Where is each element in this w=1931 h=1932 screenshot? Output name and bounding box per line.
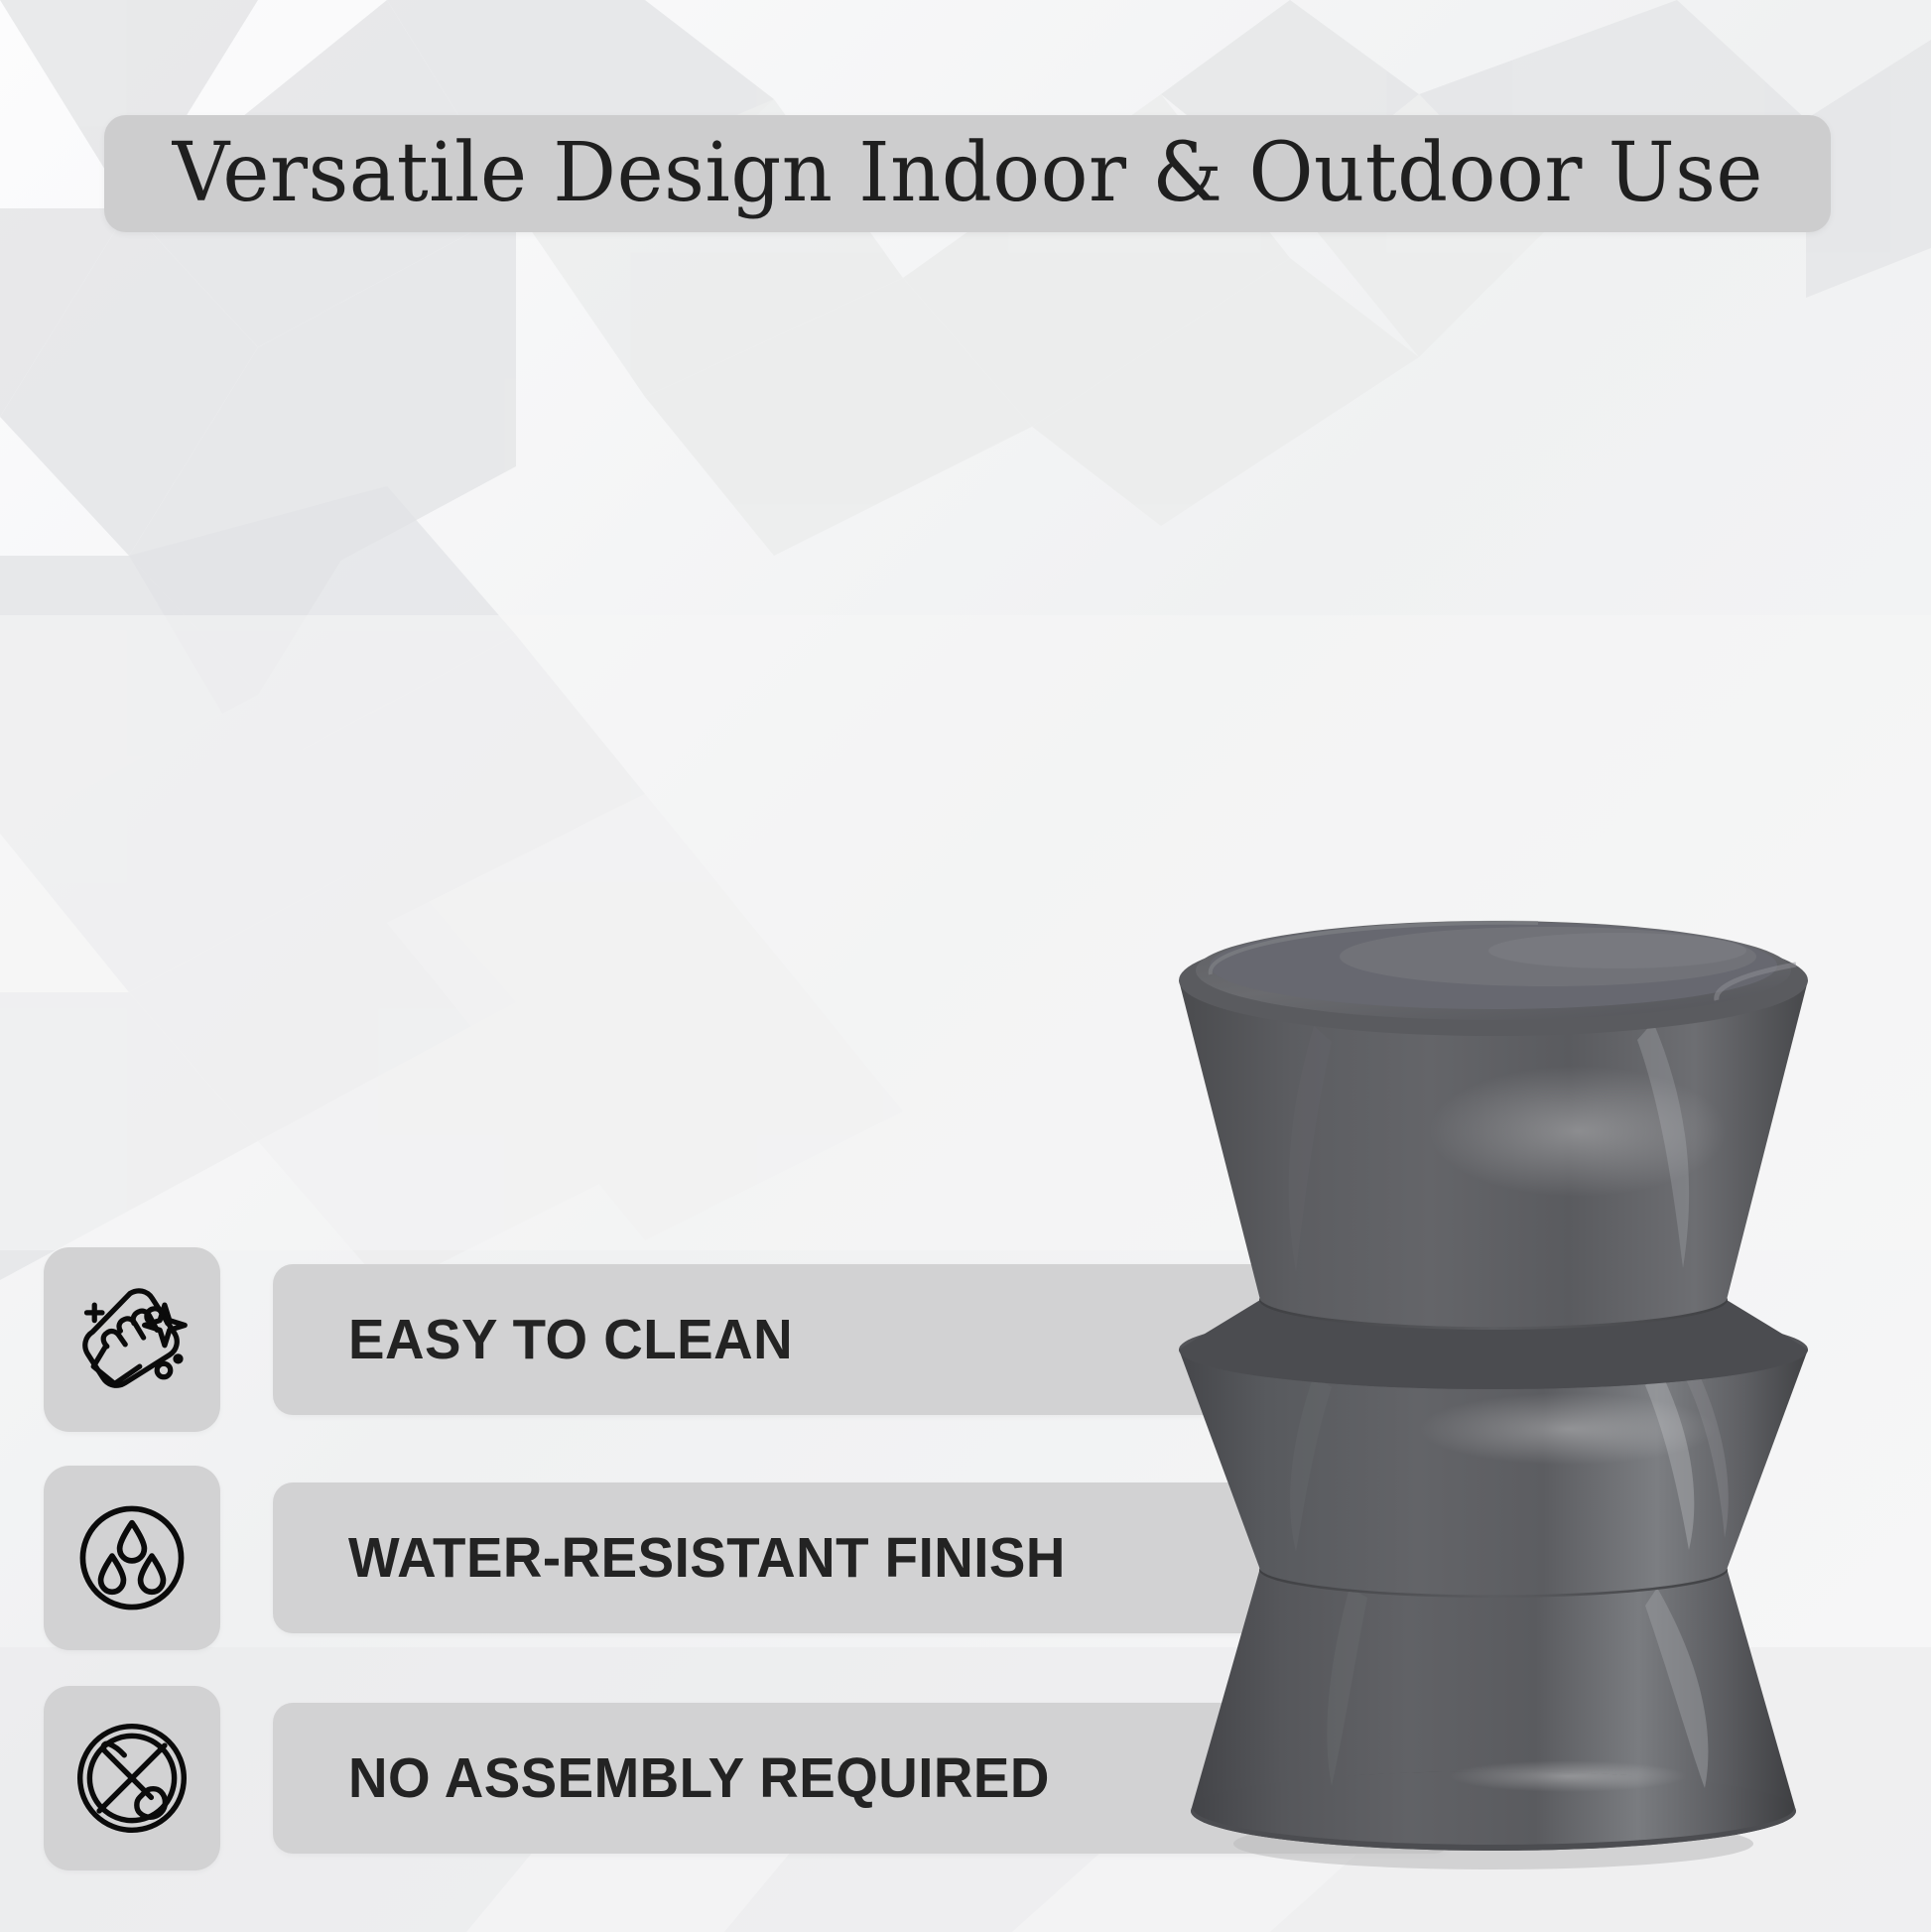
no-tools-prohibited-icon bbox=[70, 1717, 193, 1840]
product-image-side-table bbox=[1101, 834, 1885, 1885]
product-feature-infographic: Versatile Design Indoor & Outdoor Use bbox=[0, 0, 1931, 1932]
feature-icon-box bbox=[44, 1247, 220, 1432]
header-banner: Versatile Design Indoor & Outdoor Use bbox=[104, 115, 1831, 232]
hand-wiping-cloth-sparkle-icon bbox=[70, 1278, 193, 1401]
feature-label: NO ASSEMBLY REQUIRED bbox=[348, 1745, 1050, 1811]
page-title: Versatile Design Indoor & Outdoor Use bbox=[172, 133, 1762, 214]
feature-icon-box bbox=[44, 1466, 220, 1650]
feature-label: EASY TO CLEAN bbox=[348, 1307, 793, 1372]
feature-icon-box bbox=[44, 1686, 220, 1870]
feature-label: WATER-RESISTANT FINISH bbox=[348, 1525, 1066, 1591]
water-droplets-circle-icon bbox=[71, 1497, 193, 1618]
